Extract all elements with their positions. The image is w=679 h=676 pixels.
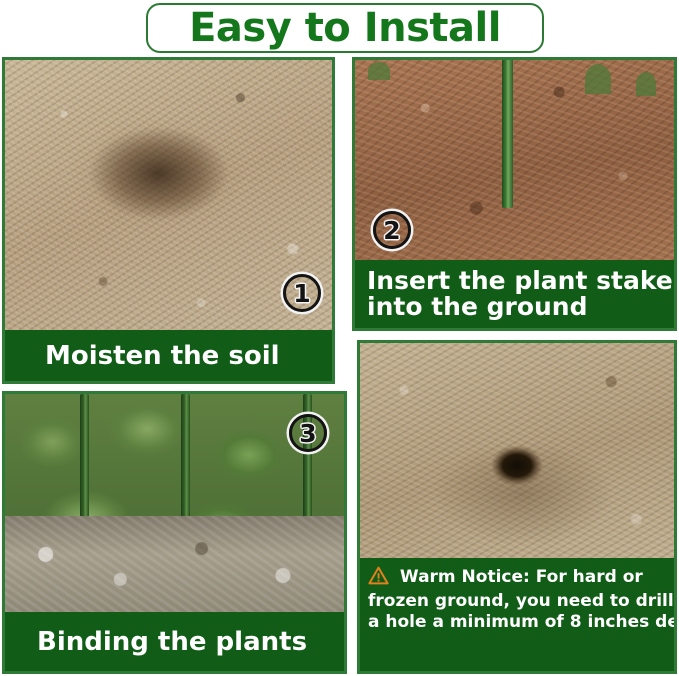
page-title: Easy to Install bbox=[189, 8, 501, 48]
step-2-caption-line-1: Insert the plant stake bbox=[367, 268, 674, 295]
warm-notice-block: Warm Notice: For hard or frozen ground, … bbox=[360, 558, 674, 671]
step-2-caption-line-2: into the ground bbox=[367, 294, 674, 321]
step-badge-1: 1 bbox=[283, 274, 321, 312]
warning-panel: Warm Notice: For hard or frozen ground, … bbox=[357, 340, 677, 674]
warm-notice-text-1: Warm Notice: For hard or bbox=[400, 567, 643, 587]
step-badge-3: 3 bbox=[289, 414, 327, 452]
step-badge-2: 2 bbox=[373, 211, 411, 249]
step-panel-2: Insert the plant stake into the ground bbox=[352, 57, 677, 331]
step-3-caption: Binding the plants bbox=[5, 612, 344, 671]
step-1-caption: Moisten the soil bbox=[5, 330, 332, 381]
step-2-caption: Insert the plant stake into the ground bbox=[355, 260, 674, 328]
gravel-ground-graphic bbox=[5, 516, 344, 612]
grass-tuft-graphic bbox=[585, 64, 611, 94]
plant-stake-graphic bbox=[502, 60, 513, 208]
page-title-box: Easy to Install bbox=[146, 3, 544, 53]
grass-tuft-graphic bbox=[368, 62, 390, 80]
warm-notice-line-2: frozen ground, you need to drill bbox=[368, 591, 668, 612]
warm-notice-line-1: Warm Notice: For hard or bbox=[368, 566, 668, 591]
warning-triangle-icon bbox=[368, 566, 389, 591]
drilled-hole-photo bbox=[360, 343, 674, 558]
step-3-caption-line-1: Binding the plants bbox=[37, 627, 344, 657]
step-panel-1: Moisten the soil bbox=[2, 57, 335, 384]
soil-texture-image bbox=[360, 343, 674, 558]
grass-tuft-graphic bbox=[636, 72, 656, 96]
step-1-caption-line-1: Moisten the soil bbox=[45, 341, 332, 371]
warm-notice-line-3: a hole a minimum of 8 inches deep bbox=[368, 612, 668, 633]
